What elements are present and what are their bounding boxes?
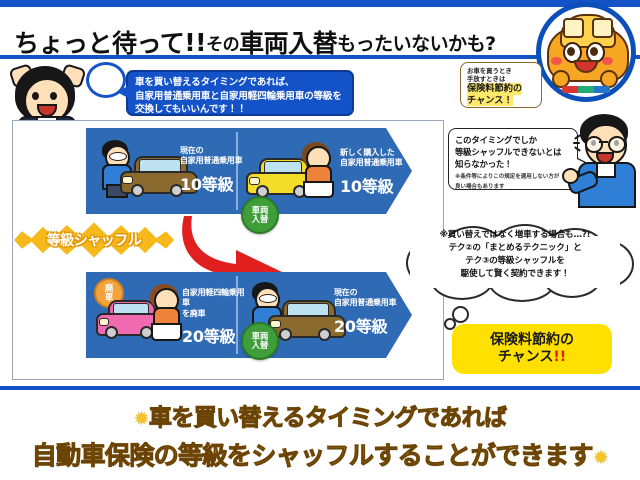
infographic-page: ちょっと待って!!その車両入替もったいないかも? 車を買い替えるタイミングであれ…: [0, 0, 640, 480]
car-mascot-icon: [536, 2, 636, 102]
footer-line2-text: 自動車保険の等級をシャッフルすることができます: [32, 441, 593, 470]
lower-right-grade: 20等級: [334, 313, 408, 337]
chance-line1: 保険料節約の: [490, 332, 574, 350]
footer-star-left: ✹: [134, 408, 149, 430]
glasses-man-character: [572, 112, 638, 204]
callout-line3: 知らなかった！: [455, 158, 571, 170]
blue-bubble-line1: 車を買い替えるタイミングであれば、: [135, 77, 294, 88]
footer-line1-text: 車を買い替えるタイミングであれば: [149, 405, 506, 431]
title-part4: もったいないかも?: [337, 29, 496, 56]
upper-left-label: 現在の 自家用普通乗用車 10等級: [180, 146, 246, 195]
footer-message: ✹車を買い替えるタイミングであれば 自動車保険の等級をシャッフルすることができま…: [0, 394, 640, 476]
upper-right-sub2: 自家用普通乗用車: [340, 158, 412, 168]
lower-left-person: [148, 284, 180, 342]
title-exclaim: !!: [184, 28, 206, 57]
upper-left-sub2: 自家用普通乗用車: [180, 156, 246, 166]
cloud-line3: テク③の等級シャッフルを: [465, 256, 564, 266]
chance-exclaim: !!: [553, 349, 566, 365]
callout-note1: ※条件等によりこの規定を適用しない方が: [455, 174, 571, 181]
lower-swap-badge: 車両 入替: [241, 322, 279, 360]
right-callout: このタイミングでしか 等級シャッフルできないとは 知らなかった！ ※条件等により…: [448, 128, 578, 190]
lower-badge-line2: 入替: [252, 341, 269, 350]
blue-speech-bubble: 車を買い替えるタイミングであれば、 自家用普通乗用車と自家用軽四輪乗用車の等級を…: [126, 70, 354, 116]
chance-banner: 保険料節約の チャンス!!: [452, 324, 612, 374]
footer-line2: 自動車保険の等級をシャッフルすることができます✹: [32, 436, 609, 472]
tip-big-1: 保険料節約の: [467, 83, 522, 95]
cloud-line2: テク②の「まとめるテクニック」と: [449, 243, 582, 253]
upper-right-person: [300, 142, 332, 198]
tip-small-2: 手放すときは: [467, 75, 535, 83]
tip-box: お車を買うとき 手放すときは 保険料節約の チャンス！: [460, 62, 542, 108]
lower-left-sub2: を廃車: [182, 309, 252, 319]
callout-line2: 等級シャッフルできないとは: [455, 146, 571, 158]
lower-right-car: [268, 300, 342, 340]
shuffle-sunburst-label: 等級シャッフル: [14, 218, 174, 262]
callout-line1: このタイミングでしか: [455, 134, 571, 146]
title-part2: その: [206, 30, 239, 55]
lower-left-sub1: 自家用軽四輪乗用車: [182, 288, 252, 309]
tip-small-1: お車を買うとき: [467, 67, 535, 75]
thought-cloud: ※買い替えではなく増車する場合も…?! テク②の「まとめるテクニック」と テク③…: [396, 224, 634, 300]
footer-star-right: ✹: [593, 447, 608, 469]
upper-left-grade: 10等級: [180, 171, 246, 195]
tip-big-2: チャンス！: [467, 95, 513, 107]
footer-line1: ✹車を買い替えるタイミングであれば: [134, 398, 507, 432]
upper-left-sub1: 現在の: [180, 146, 246, 156]
blue-bubble-line3: 交換してもいいんです！！: [135, 104, 246, 115]
upper-right-label: 新しく購入した 自家用普通乗用車 10等級: [340, 148, 412, 197]
upper-right-sub1: 新しく購入した: [340, 148, 412, 158]
thought-cloud-text: ※買い替えではなく増車する場合も…?! テク②の「まとめるテクニック」と テク③…: [404, 229, 626, 281]
cloud-line4: 駆使して賢く契約できます！: [461, 269, 570, 279]
chance-line2: チャンス: [498, 349, 554, 365]
upper-right-grade: 10等級: [340, 173, 412, 197]
bottom-rule: [0, 386, 640, 390]
blue-bubble-line2: 自家用普通乗用車と自家用軽四輪乗用車の等級を: [135, 91, 342, 102]
callout-note2: 良い場合もあります: [455, 184, 571, 191]
shuffle-label-text: 等級シャッフル: [14, 218, 174, 262]
cloud-line1: ※買い替えではなく増車する場合も…?!: [440, 230, 591, 240]
